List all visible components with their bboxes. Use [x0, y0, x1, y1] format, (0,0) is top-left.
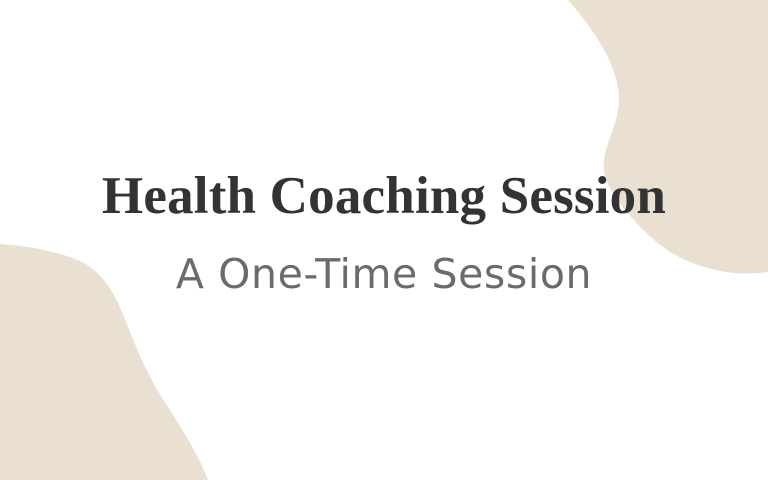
hero-content: Health Coaching Session A One-Time Sessi…	[0, 0, 768, 480]
page-subtitle: A One-Time Session	[176, 254, 592, 295]
page-title: Health Coaching Session	[102, 170, 666, 223]
promo-card: Health Coaching Session A One-Time Sessi…	[0, 0, 768, 480]
